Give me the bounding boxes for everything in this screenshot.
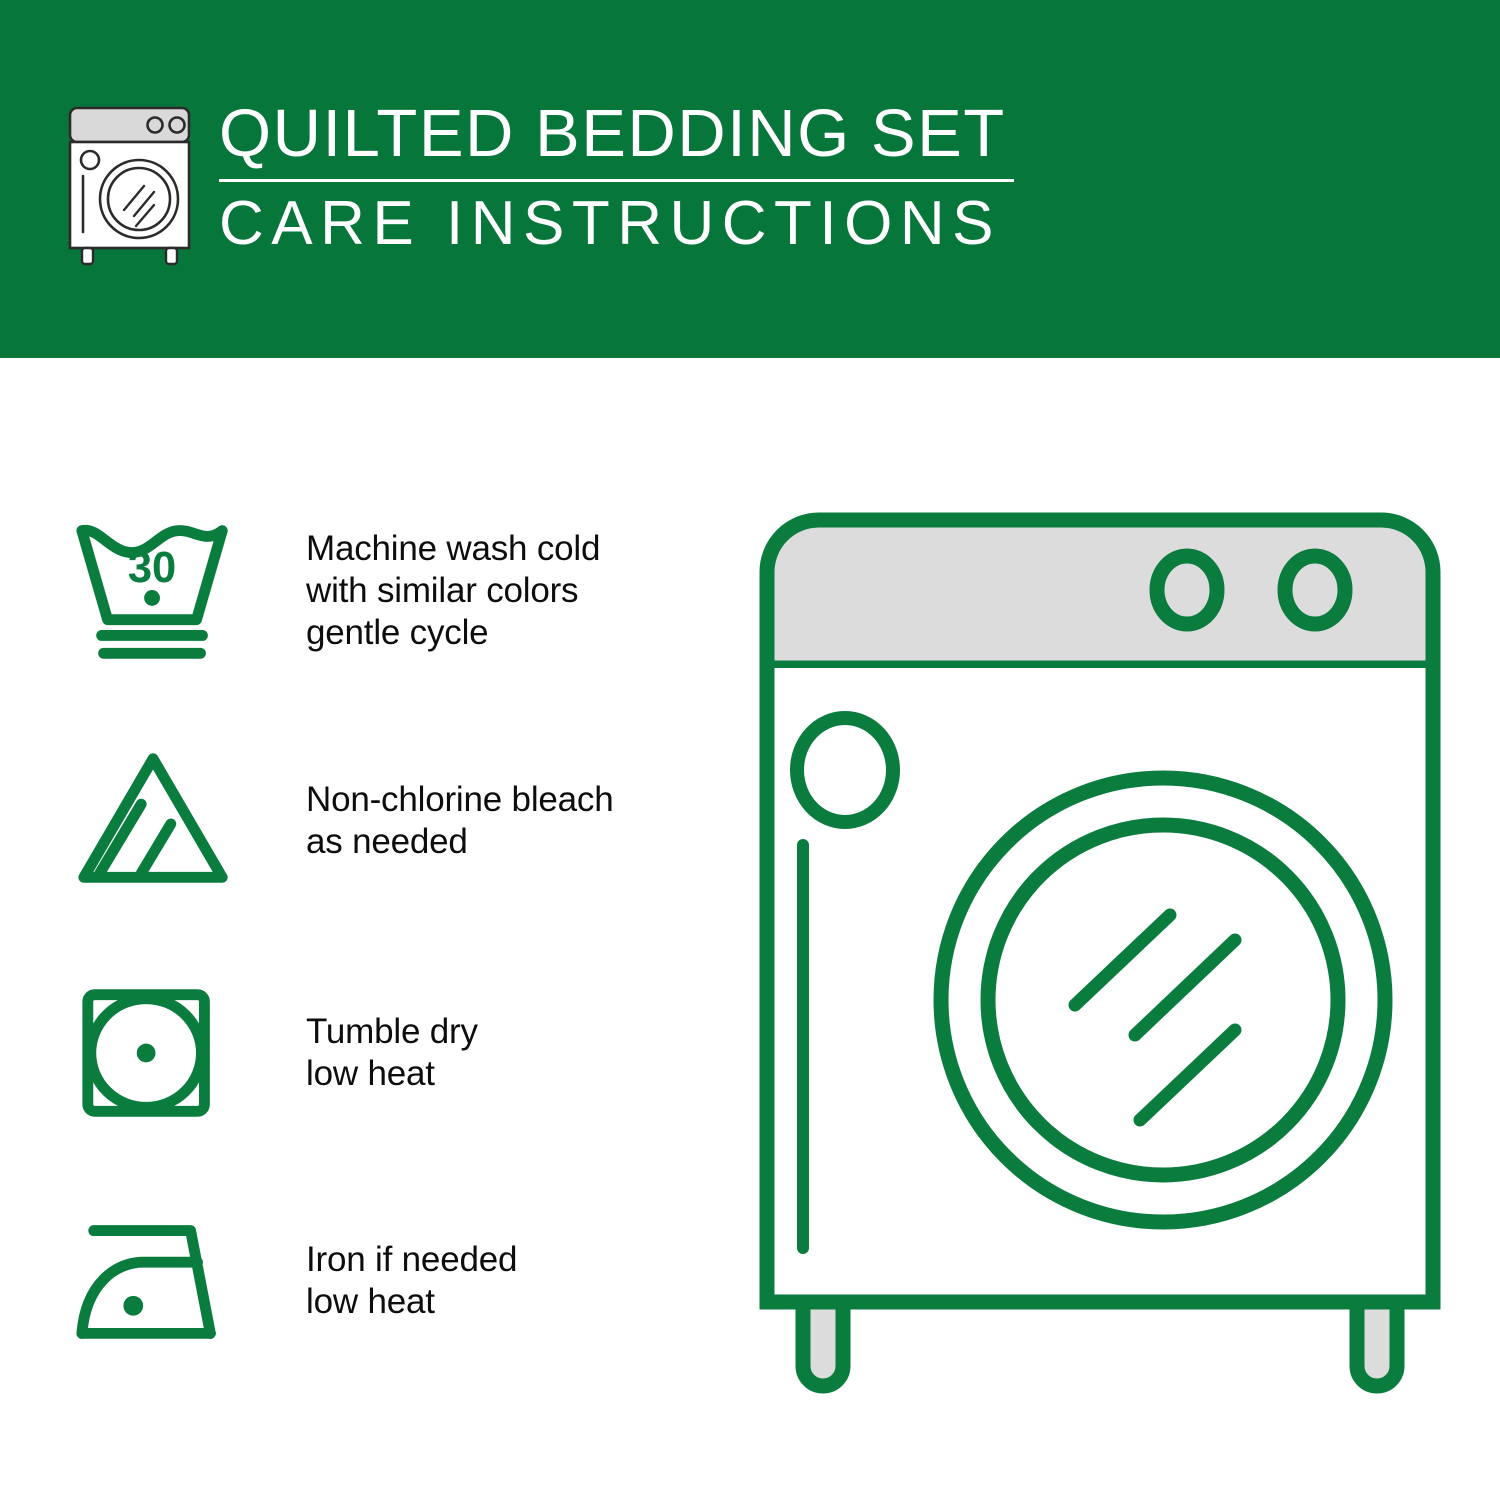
iron-low-heat-icon [72, 1206, 240, 1356]
wash-tub-30-gentle-icon: 30 [72, 516, 240, 666]
leg-left [803, 1302, 843, 1386]
care-item-bleach: Non-chlorine bleach as needed [72, 746, 712, 896]
leg-right [1357, 1302, 1397, 1386]
care-item-iron: Iron if needed low heat [72, 1206, 712, 1356]
care-item-text: Non-chlorine bleach as needed [306, 779, 614, 863]
care-item-text: Iron if needed low heat [306, 1239, 517, 1323]
care-item-line: low heat [306, 1281, 517, 1323]
care-item-line: Tumble dry [306, 1011, 478, 1053]
care-item-line: with similar colors [306, 570, 600, 612]
knob-left [1157, 556, 1217, 624]
care-item-line: gentle cycle [306, 612, 600, 654]
care-item-line: low heat [306, 1053, 478, 1095]
care-item-machine-wash: 30 Machine wash cold with similar colors… [72, 516, 712, 666]
care-item-tumble-dry: Tumble dry low heat [72, 978, 712, 1128]
care-item-line: Machine wash cold [306, 528, 600, 570]
care-item-line: Iron if needed [306, 1239, 517, 1281]
care-instruction-list: 30 Machine wash cold with similar colors… [0, 358, 740, 1500]
page-title: QUILTED BEDDING SET [219, 98, 1014, 170]
care-item-text: Tumble dry low heat [306, 1011, 478, 1095]
tumble-dry-low-heat-icon [72, 978, 240, 1128]
wash-temp-label: 30 [128, 544, 176, 592]
front-load-washing-machine-illustration [745, 500, 1455, 1420]
care-item-text: Machine wash cold with similar colors ge… [306, 528, 600, 654]
page-subtitle: CARE INSTRUCTIONS [219, 190, 1014, 258]
care-instructions-page: QUILTED BEDDING SET CARE INSTRUCTIONS [0, 0, 1500, 1500]
non-chlorine-bleach-triangle-icon [72, 746, 240, 896]
detergent-knob [797, 718, 893, 822]
care-item-line: as needed [306, 821, 614, 863]
header-titles: QUILTED BEDDING SET CARE INSTRUCTIONS [219, 98, 1014, 258]
title-divider [219, 179, 1014, 182]
header-content: QUILTED BEDDING SET CARE INSTRUCTIONS [62, 98, 1014, 269]
care-item-line: Non-chlorine bleach [306, 779, 614, 821]
knob-right [1285, 556, 1345, 624]
washing-machine-icon [62, 104, 197, 269]
header-band: QUILTED BEDDING SET CARE INSTRUCTIONS [0, 0, 1500, 358]
